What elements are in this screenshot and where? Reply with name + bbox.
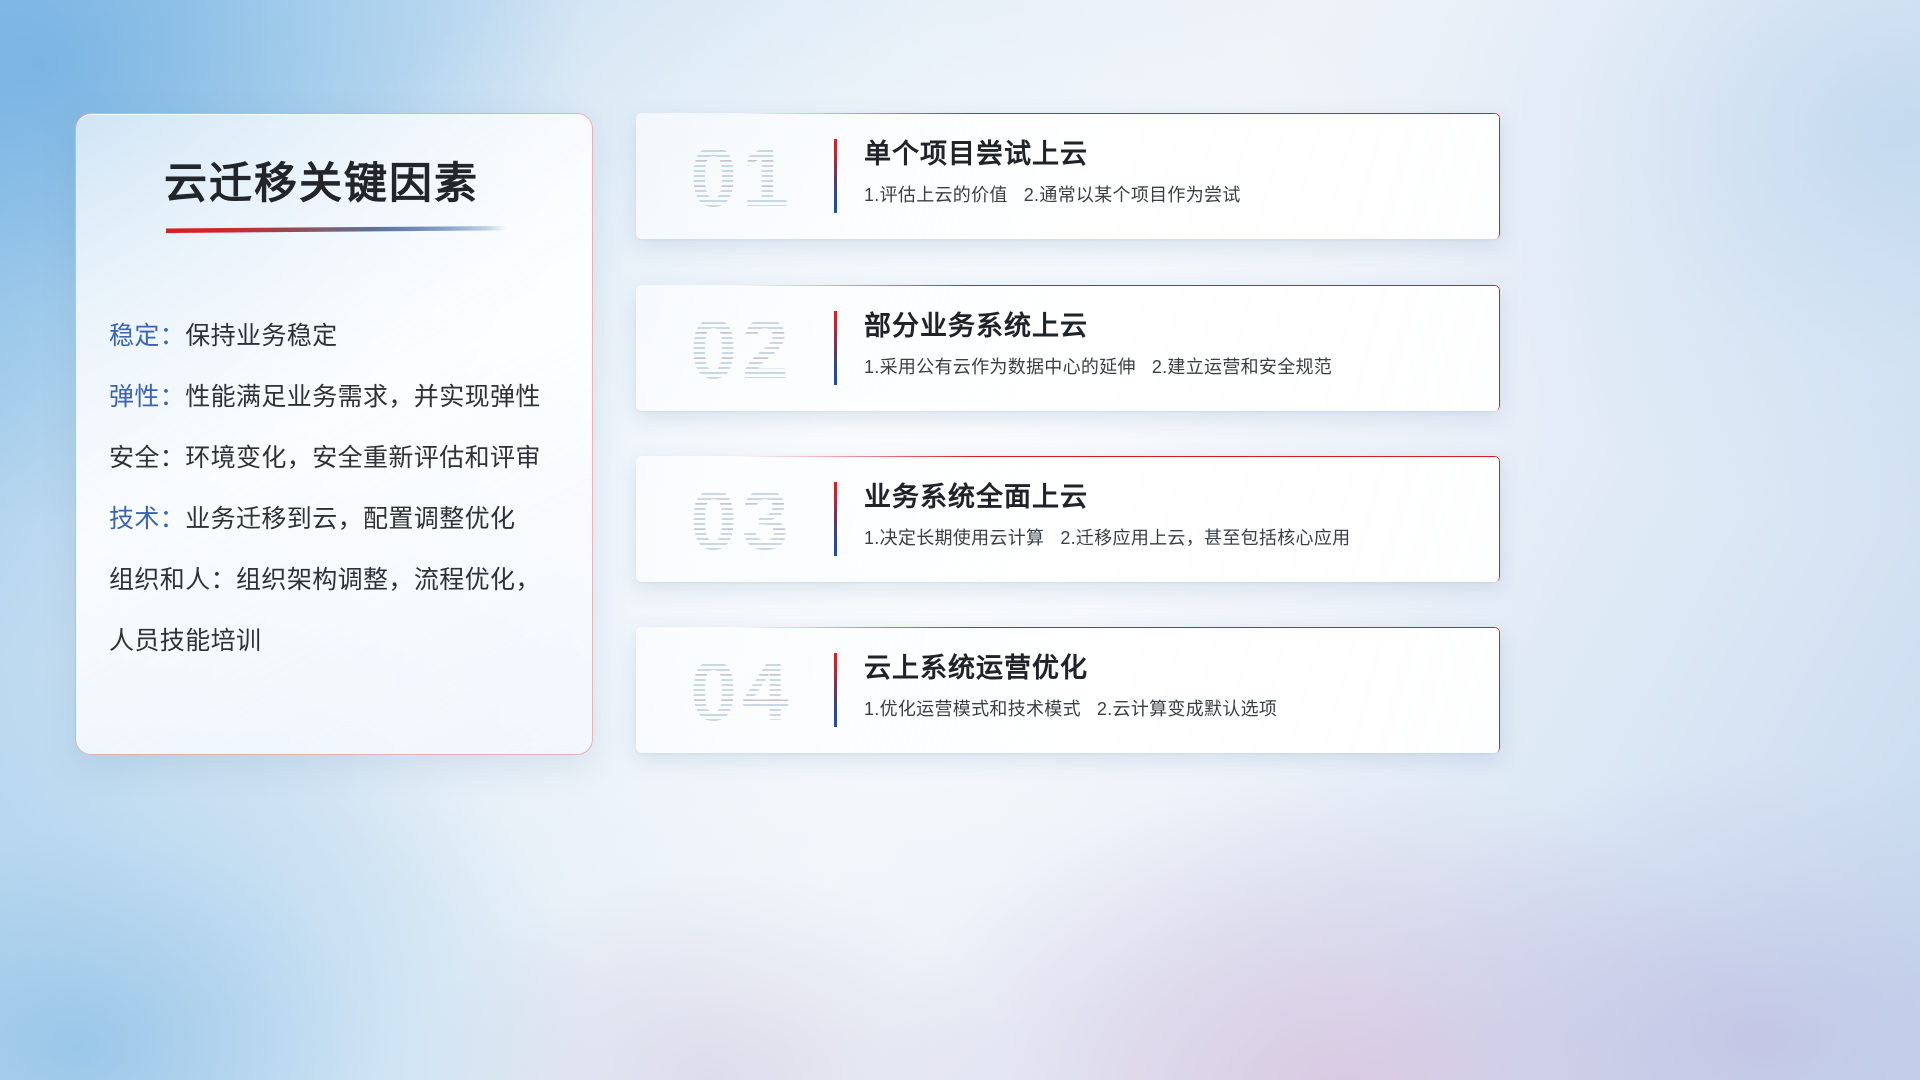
stage-card-04[interactable]: 04 04 云上系统运营优化 1.优化运营模式和技术模式2.云计算变成默认选项 [636,627,1500,753]
stage-title: 业务系统全面上云 [864,478,1476,516]
stage-divider-bar [834,311,837,385]
stage-title: 云上系统运营优化 [864,649,1476,687]
stage-card-03[interactable]: 03 03 业务系统全面上云 1.决定长期使用云计算2.迁移应用上云，甚至包括核… [636,456,1500,582]
slide-content: 云迁移关键因素 稳定：保持业务稳定 弹性：性能满足业务需求，并实现弹性 安全：环… [0,0,1920,1080]
stage-description: 1.决定长期使用云计算2.迁移应用上云，甚至包括核心应用 [864,525,1476,551]
stage-description-part-1: 1.采用公有云作为数据中心的延伸 [864,357,1136,377]
list-item-label: 组织和人： [109,566,236,594]
title-underline-rule [166,226,506,233]
list-item-label: 安全： [109,444,185,472]
list-item: 技术：业务迁移到云，配置调整优化 [109,489,572,550]
list-item-text: 环境变化，安全重新评估和评审 [185,444,541,472]
list-item-text: 保持业务稳定 [185,322,337,350]
stage-number-03-tint: 03 [658,468,826,572]
list-item-text: 组织架构调整，流程优化， [236,566,541,594]
stage-card-body: 业务系统全面上云 1.决定长期使用云计算2.迁移应用上云，甚至包括核心应用 [864,478,1476,551]
stage-description-part-2: 2.通常以某个项目作为尝试 [1024,185,1241,205]
stage-divider-bar [834,482,837,556]
stage-divider-bar [834,653,837,727]
stage-number-04-tint: 04 [658,639,826,743]
key-factors-list: 稳定：保持业务稳定 弹性：性能满足业务需求，并实现弹性 安全：环境变化，安全重新… [109,306,572,672]
stage-title: 单个项目尝试上云 [864,135,1476,173]
list-item-text: 业务迁移到云，配置调整优化 [185,505,515,533]
list-item-text: 人员技能培训 [109,627,261,655]
list-item: 组织和人：组织架构调整，流程优化， [109,550,572,611]
stage-card-body: 单个项目尝试上云 1.评估上云的价值2.通常以某个项目作为尝试 [864,135,1476,208]
stage-number-02-tint: 02 [658,297,826,401]
stage-description-part-2: 2.迁移应用上云，甚至包括核心应用 [1060,528,1350,548]
list-item-label: 弹性： [109,383,185,411]
panel-title: 云迁移关键因素 [164,149,479,211]
stage-divider-bar [834,139,837,213]
key-factors-panel: 云迁移关键因素 稳定：保持业务稳定 弹性：性能满足业务需求，并实现弹性 安全：环… [75,113,593,755]
stage-number-01-tint: 01 [658,125,826,229]
stage-description-part-1: 1.评估上云的价值 [864,185,1008,205]
stage-title: 部分业务系统上云 [864,307,1476,345]
stage-card-02[interactable]: 02 02 部分业务系统上云 1.采用公有云作为数据中心的延伸2.建立运营和安全… [636,285,1500,411]
stage-description-part-2: 2.建立运营和安全规范 [1152,357,1332,377]
stage-card-body: 部分业务系统上云 1.采用公有云作为数据中心的延伸2.建立运营和安全规范 [864,307,1476,380]
stage-description-part-1: 1.优化运营模式和技术模式 [864,699,1081,719]
stage-description-part-2: 2.云计算变成默认选项 [1097,699,1277,719]
list-item-text: 性能满足业务需求，并实现弹性 [185,383,541,411]
list-item-label: 技术： [109,505,185,533]
stage-description-part-1: 1.决定长期使用云计算 [864,528,1044,548]
stage-description: 1.评估上云的价值2.通常以某个项目作为尝试 [864,182,1476,208]
list-item: 弹性：性能满足业务需求，并实现弹性 [109,367,572,428]
list-item: 人员技能培训 [109,611,572,672]
stage-description: 1.优化运营模式和技术模式2.云计算变成默认选项 [864,696,1476,722]
list-item-label: 稳定： [109,322,185,350]
stage-card-01[interactable]: 01 01 单个项目尝试上云 1.评估上云的价值2.通常以某个项目作为尝试 [636,113,1500,239]
stage-card-body: 云上系统运营优化 1.优化运营模式和技术模式2.云计算变成默认选项 [864,649,1476,722]
list-item: 稳定：保持业务稳定 [109,306,572,367]
stage-description: 1.采用公有云作为数据中心的延伸2.建立运营和安全规范 [864,354,1476,380]
list-item: 安全：环境变化，安全重新评估和评审 [109,428,572,489]
